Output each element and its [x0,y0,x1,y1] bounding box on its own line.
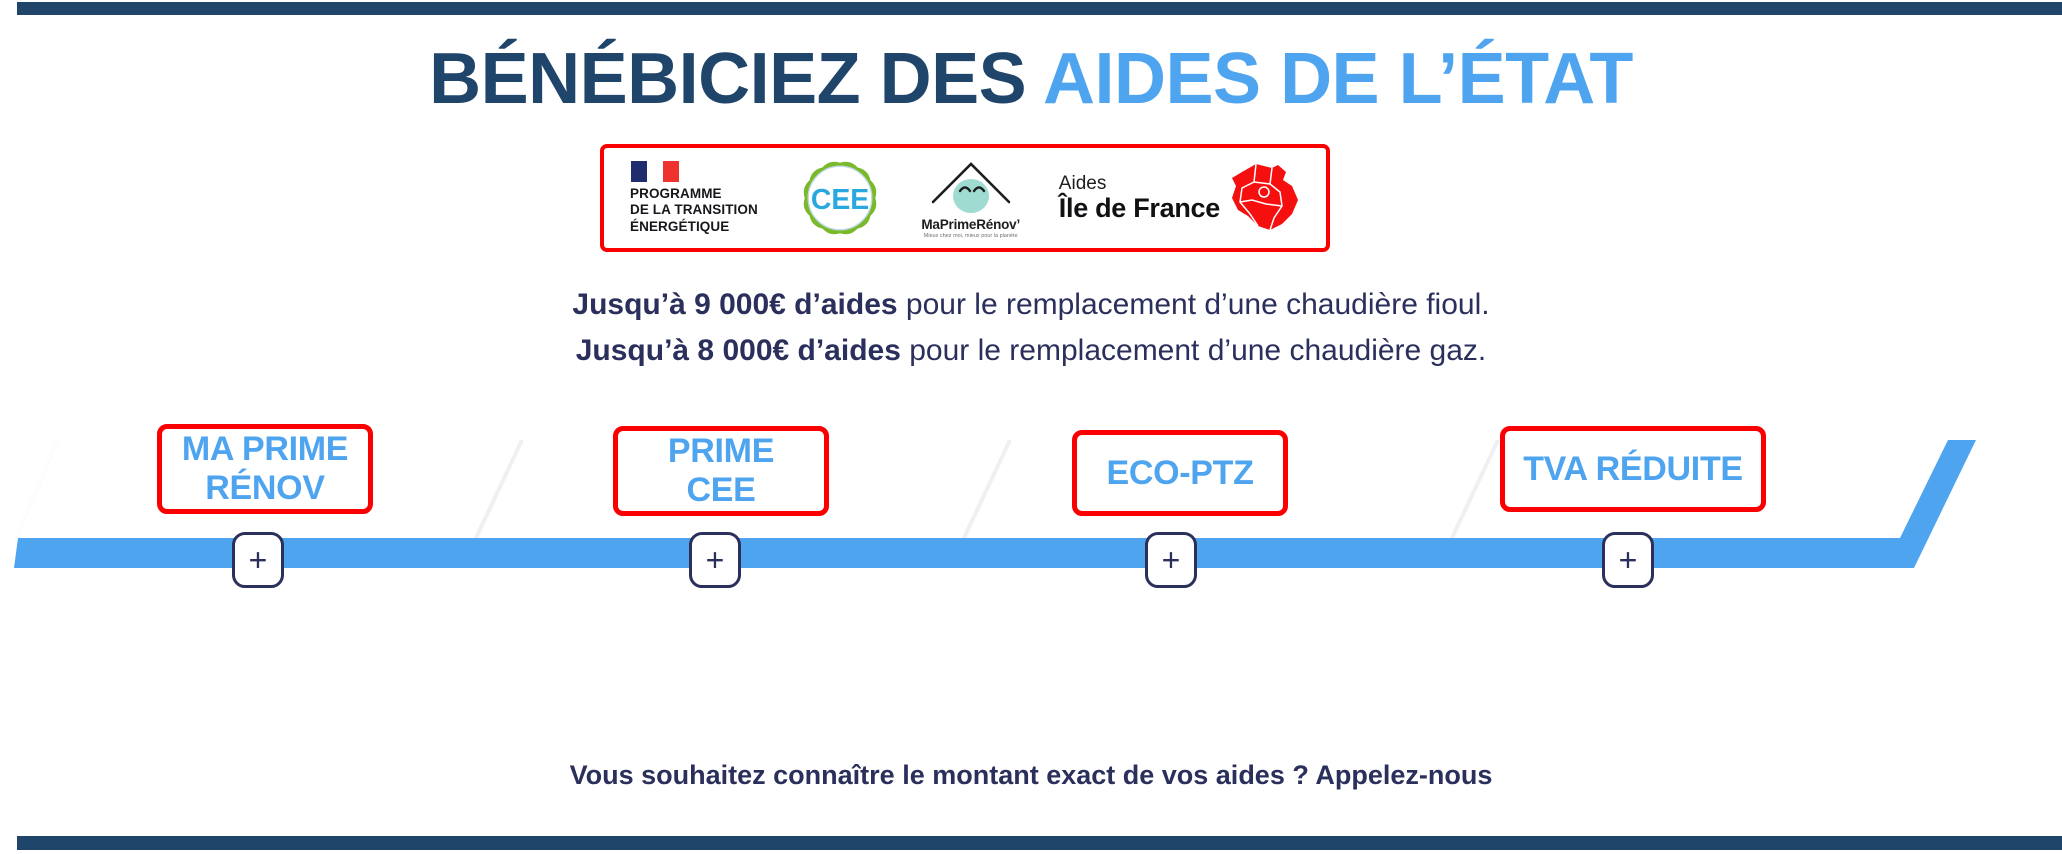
logo-cee: CEE [797,148,883,248]
idf-words: Aides Île de France [1059,174,1220,222]
idf-big-label: Île de France [1059,194,1220,222]
aid-rest-gaz: pour le remplacement d’une chaudière gaz… [901,334,1486,367]
badge-eco-ptz-label: ECO-PTZ [1106,454,1253,493]
bottom-navy-rule [17,836,2062,850]
logo-pte-line3: ÉNERGÉTIQUE [630,219,758,235]
logo-aides-ile-de-france: Aides Île de France [1059,148,1300,248]
badge-tva-reduite-label: TVA RÉDUITE [1523,450,1743,489]
french-flag-icon [631,161,679,182]
plus-icon: + [706,544,725,576]
logo-pte-line1: PROGRAMME [630,186,758,202]
logo-maprimerenov: MaPrimeRénov’ Mieux chez moi, mieux pour… [921,148,1020,248]
band-badges: MA PRIME RÉNOV + PRIME CEE + ECO-PTZ + T… [0,440,2062,670]
aid-amount-gaz: Jusqu’à 8 000€ d’aides [576,334,901,367]
maprimerenov-label: MaPrimeRénov’ [921,217,1020,232]
ile-de-france-map-icon [1226,162,1300,234]
cee-label: CEE [810,184,868,216]
aid-types-band: MA PRIME RÉNOV + PRIME CEE + ECO-PTZ + T… [0,440,2062,670]
expand-tva-reduite-button[interactable]: + [1602,532,1654,588]
cee-badge-icon: CEE [797,155,883,241]
aid-line-fioul: Jusqu’à 9 000€ d’aides pour le remplacem… [0,282,2062,328]
logo-programme-transition-energetique: PROGRAMME DE LA TRANSITION ÉNERGÉTIQUE [630,148,758,248]
badge-prime-cee[interactable]: PRIME CEE [613,426,829,516]
maprimerenov-tagline: Mieux chez moi, mieux pour la planète [924,233,1018,239]
logo-pte-text: PROGRAMME DE LA TRANSITION ÉNERGÉTIQUE [630,186,758,235]
aid-promo-page: BÉNÉBICIEZ DES AIDES DE L’ÉTAT PROGRAMME… [0,0,2062,854]
expand-ma-prime-renov-button[interactable]: + [232,532,284,588]
aid-amount-lines: Jusqu’à 9 000€ d’aides pour le remplacem… [0,282,2062,373]
contact-question: Vous souhaitez connaître le montant exac… [0,760,2062,791]
plus-icon: + [1619,544,1638,576]
top-navy-rule [17,2,2062,15]
idf-small-label: Aides [1059,174,1220,194]
badge-ma-prime-renov[interactable]: MA PRIME RÉNOV [157,424,373,514]
page-title-light-part: AIDES DE L’ÉTAT [1043,39,1633,119]
badge-tva-reduite[interactable]: TVA RÉDUITE [1500,426,1766,512]
page-title: BÉNÉBICIEZ DES AIDES DE L’ÉTAT [0,43,2062,115]
aid-amount-fioul: Jusqu’à 9 000€ d’aides [572,288,897,321]
expand-eco-ptz-button[interactable]: + [1145,532,1197,588]
maprimerenov-house-icon [927,158,1015,216]
badge-prime-cee-label: PRIME CEE [668,432,774,510]
aid-rest-fioul: pour le remplacement d’une chaudière fio… [898,288,1490,321]
plus-icon: + [249,544,268,576]
badge-eco-ptz[interactable]: ECO-PTZ [1072,430,1288,516]
aid-line-gaz: Jusqu’à 8 000€ d’aides pour le remplacem… [0,328,2062,374]
logo-strip: PROGRAMME DE LA TRANSITION ÉNERGÉTIQUE C… [600,144,1330,252]
expand-prime-cee-button[interactable]: + [689,532,741,588]
badge-ma-prime-renov-label: MA PRIME RÉNOV [182,430,348,508]
page-title-dark-part: BÉNÉBICIEZ DES [429,39,1043,119]
logo-pte-line2: DE LA TRANSITION [630,202,758,218]
plus-icon: + [1162,544,1181,576]
